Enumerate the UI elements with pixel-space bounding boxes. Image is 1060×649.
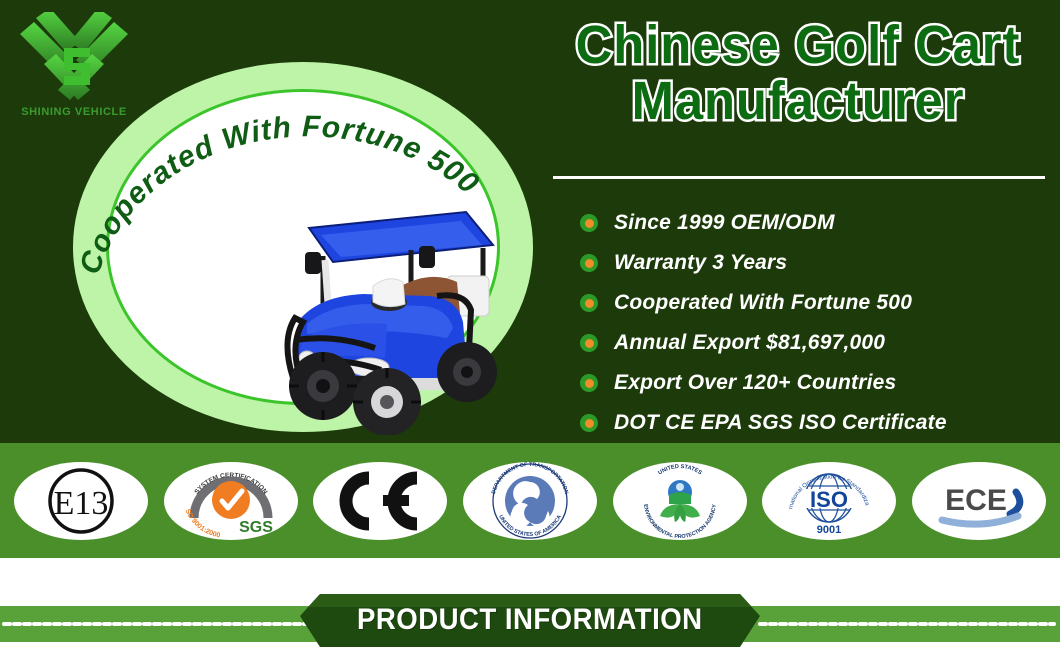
product-oval-badge: Cooperated With Fortune 500 — [73, 62, 533, 432]
product-information-ribbon — [0, 590, 1060, 649]
headline: Chinese Golf Cart Manufacturer — [548, 18, 1048, 129]
promo-banner: SHINING VEHICLE Cooperated With Fortune … — [0, 0, 1060, 649]
iso-number: 9001 — [817, 524, 841, 536]
dot-certificate-badge: DEPARTMENT OF TRANSPORTATION UNITED STAT… — [463, 462, 597, 540]
list-item: Export Over 120+ Countries — [580, 363, 1050, 403]
iso-mark: ISO — [810, 487, 848, 512]
list-item: Since 1999 OEM/ODM — [580, 203, 1050, 243]
bullet-icon — [580, 374, 598, 392]
headline-divider — [553, 176, 1045, 179]
ce-certificate-badge — [313, 462, 447, 540]
list-item: Cooperated With Fortune 500 — [580, 283, 1050, 323]
bullet-icon — [580, 414, 598, 432]
list-item: Annual Export $81,697,000 — [580, 323, 1050, 363]
list-item: DOT CE EPA SGS ISO Certificate — [580, 403, 1050, 443]
bullet-icon — [580, 254, 598, 272]
sgs-iso-certificate-badge: SYSTEM CERTIFICATION ISO 9001:2000 SGS — [164, 462, 298, 540]
bullet-icon — [580, 294, 598, 312]
bullet-icon — [580, 334, 598, 352]
headline-line-1: Chinese Golf Cart — [563, 18, 1033, 74]
list-item: Warranty 3 Years — [580, 243, 1050, 283]
ece-certificate-badge: ECE — [912, 462, 1046, 540]
feature-label: Annual Export $81,697,000 — [614, 331, 885, 355]
feature-label: Since 1999 OEM/ODM — [614, 211, 835, 235]
certificate-band: E13 SYSTEM CERTIFICATION ISO 9001:2000 — [0, 443, 1060, 558]
headline-line-2: Manufacturer — [563, 74, 1033, 130]
epa-certificate-badge: UNITED STATES ENVIRONMENTAL PROTECTION A… — [613, 462, 747, 540]
e13-label: E13 — [54, 485, 109, 522]
bullet-icon — [580, 214, 598, 232]
feature-label: DOT CE EPA SGS ISO Certificate — [614, 411, 947, 435]
feature-list: Since 1999 OEM/ODM Warranty 3 Years Coop… — [580, 203, 1050, 443]
sgs-mark: SGS — [239, 519, 273, 536]
iso-9001-certificate-badge: ISO International Organization for Stand… — [762, 462, 896, 540]
e13-certificate-badge: E13 — [14, 462, 148, 540]
feature-label: Cooperated With Fortune 500 — [614, 291, 912, 315]
hero-section: SHINING VEHICLE Cooperated With Fortune … — [0, 0, 1060, 443]
golf-cart-image — [261, 190, 511, 435]
feature-label: Export Over 120+ Countries — [614, 371, 896, 395]
feature-label: Warranty 3 Years — [614, 251, 787, 275]
ece-label: ECE — [945, 484, 1007, 517]
